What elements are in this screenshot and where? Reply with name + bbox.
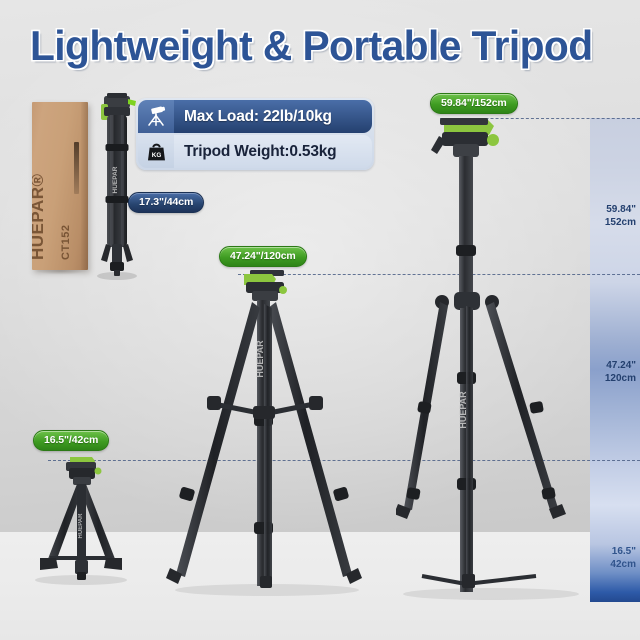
scale-label-120: 47.24" 120cm [605, 360, 636, 385]
tripod-large: HUEPAR [396, 110, 586, 600]
box-brand-text: HUEPAR® [32, 173, 48, 260]
spec-label-max-load: Max Load: 22lb/10kg [174, 100, 372, 133]
tripod-medium: HUEPAR [152, 264, 382, 596]
camera-tripod-icon [138, 100, 174, 133]
svg-text:HUEPAR: HUEPAR [112, 166, 119, 193]
product-box: HUEPAR® CT152 [32, 102, 88, 270]
svg-text:KG: KG [151, 152, 161, 159]
svg-text:HUEPAR: HUEPAR [255, 340, 265, 378]
spec-row-tripod-weight: KG Tripod Weight:0.53kg [138, 135, 372, 168]
kg-weight-icon: KG [138, 135, 174, 168]
scale-label-152: 59.84" 152cm [605, 204, 636, 229]
badge-height-max: 59.84"/152cm [430, 93, 518, 114]
tripod-small: HUEPAR [22, 452, 140, 586]
svg-text:HUEPAR: HUEPAR [78, 513, 84, 539]
box-label-strip [74, 142, 79, 194]
product-image-stage: 59.84" 152cm 47.24" 120cm 16.5" 42cm HUE… [0, 0, 640, 640]
scale-label-42: 16.5" 42cm [610, 546, 636, 571]
spec-panel: Max Load: 22lb/10kg KG Tripod Weight:0.5… [136, 98, 374, 170]
badge-height-mid: 47.24"/120cm [219, 246, 307, 267]
page-title: Lightweight & Portable Tripod [30, 22, 593, 70]
spec-row-max-load: Max Load: 22lb/10kg [138, 100, 372, 133]
badge-folded-length: 17.3"/44cm [128, 192, 204, 213]
badge-height-min: 16.5"/42cm [33, 430, 109, 451]
height-scale-bar: 59.84" 152cm 47.24" 120cm 16.5" 42cm [590, 118, 640, 602]
box-model-text: CT152 [60, 224, 72, 260]
spec-label-tripod-weight: Tripod Weight:0.53kg [174, 135, 372, 168]
